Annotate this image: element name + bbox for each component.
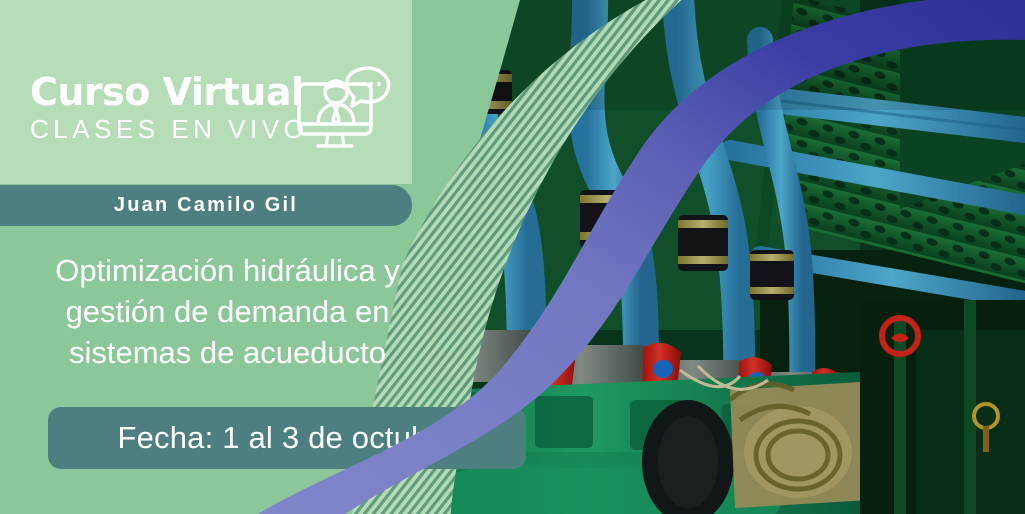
- course-title-line-1: Optimización hidráulica y: [0, 250, 455, 291]
- header-subtitle: CLASES EN VIVO: [30, 113, 292, 145]
- instructor-name-bar: Juan Camilo Gil: [0, 185, 412, 226]
- instructor-name: Juan Camilo Gil: [114, 194, 298, 217]
- date-pill: Fecha: 1 al 3 de octubre: [48, 407, 526, 469]
- course-title: Optimización hidráulica y gestión de dem…: [0, 250, 455, 373]
- header-title: Curso Virtual: [30, 71, 292, 113]
- webinar-monitor-icon: [296, 62, 392, 154]
- header-band: Curso Virtual CLASES EN VIVO: [0, 0, 412, 184]
- course-title-line-3: sistemas de acueducto: [0, 332, 455, 373]
- header-inner: Curso Virtual CLASES EN VIVO: [30, 62, 390, 154]
- course-promo-banner: Curso Virtual CLASES EN VIVO: [0, 0, 1025, 514]
- course-title-line-2: gestión de demanda en: [0, 291, 455, 332]
- header-text-group: Curso Virtual CLASES EN VIVO: [30, 71, 292, 145]
- date-label: Fecha: 1 al 3 de octubre: [117, 420, 456, 456]
